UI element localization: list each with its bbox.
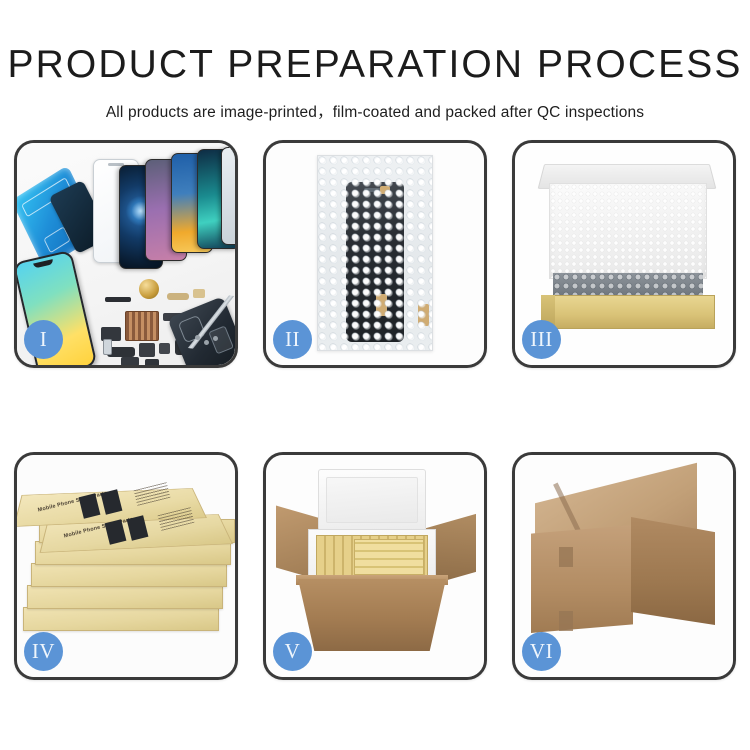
carton-tape-lower-icon <box>559 611 573 631</box>
foam-box-lid-icon <box>318 469 426 531</box>
bubble-wrap-sheet <box>317 155 433 351</box>
process-step-card-4[interactable]: Mobile Phone Spare Parts Mobile Phone Sp… <box>14 452 238 680</box>
step-badge-2: II <box>273 320 312 359</box>
component-strip-icon <box>105 297 131 302</box>
phone-fan-group <box>117 151 235 271</box>
process-step-card-6[interactable]: VI <box>512 452 736 680</box>
process-step-grid: I II <box>14 140 736 680</box>
kraft-box-icon <box>23 607 219 631</box>
product-preparation-infographic: PRODUCT PREPARATION PROCESS All products… <box>0 0 750 750</box>
step-badge-4: IV <box>24 632 63 671</box>
kraft-box-icon <box>31 563 227 587</box>
step-badge-1: I <box>24 320 63 359</box>
carton-tape-upper-icon <box>559 547 573 567</box>
kraft-tray-icon <box>541 295 715 329</box>
shield-plate-icon <box>121 357 139 365</box>
process-step-card-1[interactable]: I <box>14 140 238 368</box>
step-badge-5: V <box>273 632 312 671</box>
process-step-card-2[interactable]: II <box>263 140 487 368</box>
foam-texture <box>550 184 706 278</box>
step-badge-3: III <box>522 320 561 359</box>
foam-sheet-icon <box>549 183 707 279</box>
screws-icon <box>195 335 221 347</box>
phone-screen-silver-icon <box>221 147 235 245</box>
clip-icon <box>145 359 159 365</box>
carton-left-face-icon <box>531 525 633 633</box>
header: PRODUCT PREPARATION PROCESS All products… <box>0 0 750 122</box>
speaker-module-icon <box>139 279 159 299</box>
chip-icon <box>159 343 170 354</box>
page-subtitle: All products are image-printed，film-coat… <box>0 100 750 122</box>
process-step-card-5[interactable]: V <box>263 452 487 680</box>
page-title: PRODUCT PREPARATION PROCESS <box>0 45 750 84</box>
bubble-texture-front <box>318 156 432 350</box>
sensor-icon <box>139 343 155 357</box>
process-step-card-3[interactable]: III <box>512 140 736 368</box>
kraft-box-icon <box>27 585 223 609</box>
step-badge-6: VI <box>522 632 561 671</box>
flex-cable-icon <box>167 293 189 300</box>
carton-right-face-icon <box>631 517 715 625</box>
carton-front-icon <box>298 579 446 651</box>
sim-tray-icon <box>103 339 112 355</box>
mesh-grille-icon <box>125 311 159 341</box>
kraft-boxes-row-2-icon <box>354 539 424 575</box>
